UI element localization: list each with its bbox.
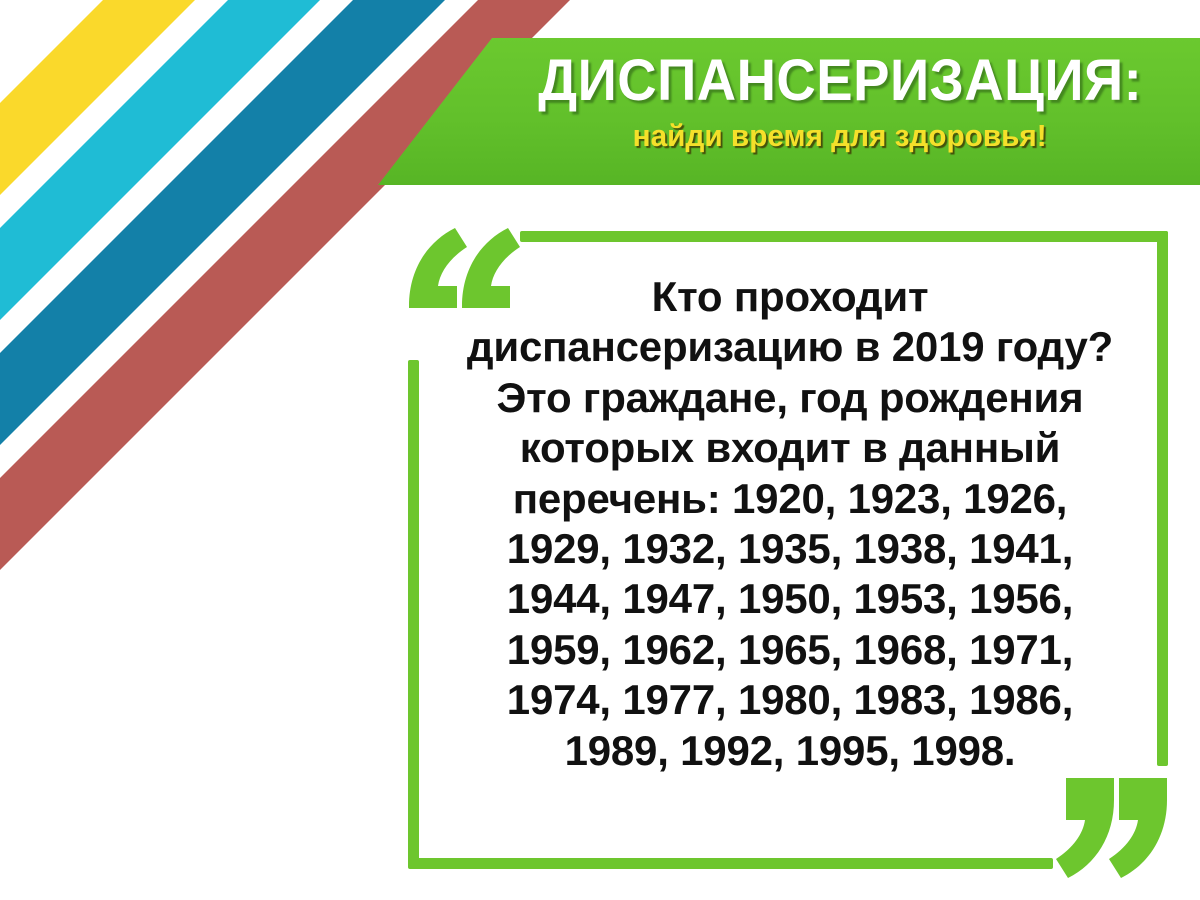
frame-bottom-bar — [408, 858, 1053, 869]
yellow-stripe — [0, 0, 255, 255]
banner-title: ДИСПАНСЕРИЗАЦИЯ: — [538, 52, 1142, 110]
quote-text-block: Кто проходит диспансеризацию в 2019 году… — [432, 272, 1148, 776]
frame-left-bar — [408, 360, 419, 868]
slide-canvas: ДИСПАНСЕРИЗАЦИЯ: найди время для здоровь… — [0, 0, 1200, 900]
quote-line: 1959, 1962, 1965, 1968, 1971, — [432, 625, 1148, 675]
header-banner: ДИСПАНСЕРИЗАЦИЯ: найди время для здоровь… — [360, 38, 1200, 188]
cyan-stripe — [0, 0, 380, 380]
quote-line: 1974, 1977, 1980, 1983, 1986, — [432, 675, 1148, 725]
closing-quote-icon — [1056, 778, 1167, 878]
quote-line: Это граждане, год рождения — [432, 373, 1148, 423]
frame-right-bar — [1157, 231, 1168, 766]
quote-line: 1944, 1947, 1950, 1953, 1956, — [432, 574, 1148, 624]
quote-line: 1929, 1932, 1935, 1938, 1941, — [432, 524, 1148, 574]
frame-top-bar — [520, 231, 1168, 242]
quote-line: которых входит в данный — [432, 423, 1148, 473]
quote-line: перечень: 1920, 1923, 1926, — [432, 474, 1148, 524]
quote-line: диспансеризацию в 2019 году? — [432, 322, 1148, 372]
quote-line: 1989, 1992, 1995, 1998. — [432, 726, 1148, 776]
quote-line: Кто проходит — [432, 272, 1148, 322]
banner-subtitle: найди время для здоровья! — [633, 120, 1047, 151]
